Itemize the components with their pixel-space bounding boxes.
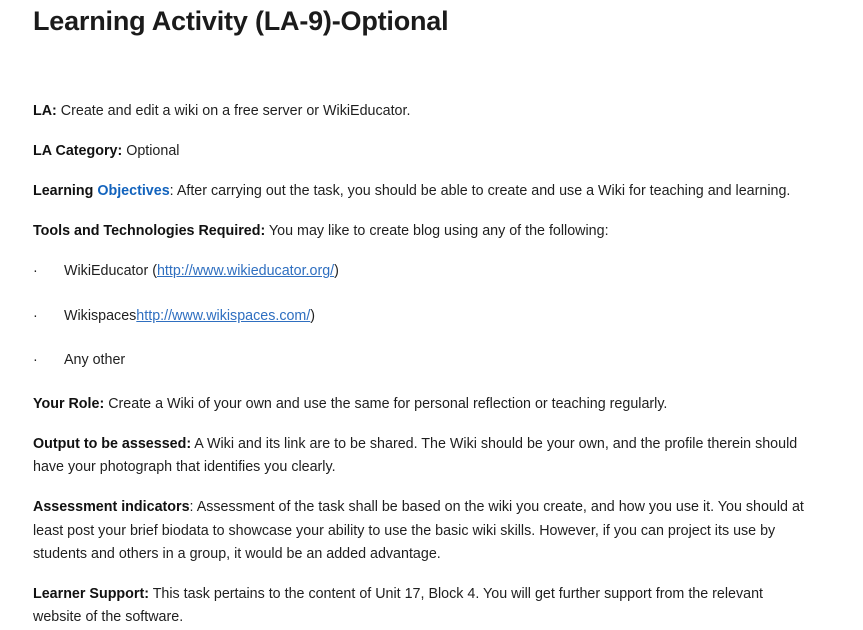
paragraph-assessment-indicators: Assessment indicators: Assessment of the…	[33, 496, 815, 565]
la-category-label: LA Category:	[33, 143, 122, 159]
list-item-label: WikiEducator (	[64, 263, 157, 279]
tools-label: Tools and Technologies Required:	[33, 223, 265, 239]
paragraph-learner-support: Learner Support: This task pertains to t…	[33, 583, 815, 629]
wikispaces-link[interactable]: http://www.wikispaces.com/	[136, 308, 310, 324]
document-page: Learning Activity (LA-9)-Optional LA: Cr…	[0, 0, 863, 630]
assessment-label: Assessment indicators	[33, 499, 190, 515]
list-item-tail: )	[310, 308, 315, 324]
list-item: ·WikiEducator (http://www.wikieducator.o…	[33, 260, 830, 283]
title-spacer	[33, 38, 830, 100]
list-item: ·Wikispaceshttp://www.wikispaces.com/)	[33, 305, 830, 328]
your-role-text: Create a Wiki of your own and use the sa…	[104, 396, 667, 412]
output-label: Output to be assessed:	[33, 436, 191, 452]
objectives-label-accent: Objectives	[97, 183, 169, 199]
list-item-label: Wikispaces	[64, 308, 136, 324]
la-category-text: Optional	[122, 143, 179, 159]
la-label: LA:	[33, 103, 57, 119]
paragraph-learning-objectives: Learning Objectives: After carrying out …	[33, 180, 815, 203]
tools-text: You may like to create blog using any of…	[265, 223, 608, 239]
bullet-marker: ·	[33, 260, 38, 283]
list-item-tail: )	[334, 263, 339, 279]
paragraph-la-category: LA Category: Optional	[33, 140, 815, 163]
list-item: ·Any other	[33, 349, 830, 372]
wikieducator-link[interactable]: http://www.wikieducator.org/	[157, 263, 334, 279]
bullet-marker: ·	[33, 305, 38, 328]
paragraph-output-assessed: Output to be assessed: A Wiki and its li…	[33, 433, 815, 479]
bullet-marker: ·	[33, 349, 38, 372]
paragraph-tools-required: Tools and Technologies Required: You may…	[33, 220, 815, 243]
list-item-label: Any other	[64, 352, 125, 368]
paragraph-your-role: Your Role: Create a Wiki of your own and…	[33, 393, 815, 416]
objectives-text: : After carrying out the task, you shoul…	[170, 183, 791, 199]
tools-list: ·WikiEducator (http://www.wikieducator.o…	[33, 260, 830, 371]
page-title: Learning Activity (LA-9)-Optional	[33, 0, 830, 38]
your-role-label: Your Role:	[33, 396, 104, 412]
learner-support-label: Learner Support:	[33, 586, 149, 602]
la-text: Create and edit a wiki on a free server …	[57, 103, 411, 119]
objectives-label-prefix: Learning	[33, 183, 97, 199]
paragraph-la: LA: Create and edit a wiki on a free ser…	[33, 100, 815, 123]
